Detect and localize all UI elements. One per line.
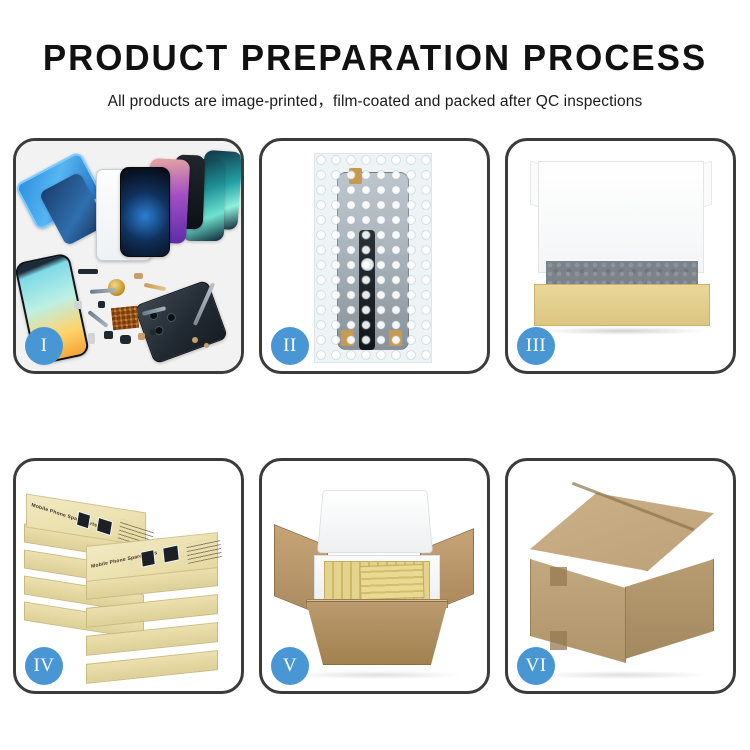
carton-top-face [530, 493, 714, 571]
box-phone-image [140, 549, 156, 568]
camera-hole-icon [361, 258, 374, 271]
step-card-6[interactable]: VI [505, 458, 736, 694]
header: PRODUCT PREPARATION PROCESS All products… [0, 38, 750, 111]
page-title: PRODUCT PREPARATION PROCESS [11, 38, 739, 78]
carton-shadow [538, 671, 708, 679]
screw-2-icon [192, 337, 198, 343]
flex-cable-2-icon [87, 310, 108, 328]
step-badge-4: IV [25, 647, 63, 685]
carton-side-face [625, 559, 714, 659]
box-shadow [538, 327, 708, 335]
carton-front-face [530, 559, 626, 663]
carton-shadow [292, 671, 462, 679]
page-subtitle: All products are image-printed，film-coat… [0, 89, 750, 111]
flex-cable-strip [359, 230, 375, 350]
component-dark-icon [104, 331, 113, 339]
phone-housing-icon [134, 280, 229, 365]
step-card-2[interactable]: II [259, 138, 490, 374]
lcd-screen-icon [120, 167, 170, 257]
button-icon [150, 329, 156, 335]
step-card-4[interactable]: Mobile Phone Spare Parts Mobile Phone Sp… [13, 458, 244, 694]
yellow-boxes-inside-2 [359, 564, 424, 600]
connector-left-icon [341, 330, 354, 346]
step-badge-1: I [25, 327, 63, 365]
component-bar-icon [78, 269, 98, 274]
yellow-box-body [534, 284, 710, 326]
foam-lid [538, 161, 704, 273]
component-pale-icon [88, 333, 95, 344]
step-card-3[interactable]: III [505, 138, 736, 374]
bubble-wrap-bag [314, 153, 432, 363]
foam-lid-open [317, 490, 433, 553]
screw-icon [138, 333, 145, 340]
box-phone-image [162, 544, 180, 563]
product-preparation-infographic: PRODUCT PREPARATION PROCESS All products… [0, 0, 750, 750]
process-steps-grid: I II [13, 138, 737, 694]
step-badge-2: II [271, 327, 309, 365]
carton-tape-top [550, 567, 567, 586]
step-card-5[interactable]: V [259, 458, 490, 694]
component-tan-icon [134, 273, 143, 279]
screw-3-icon [204, 343, 209, 348]
ic-icon [98, 301, 105, 308]
carton-tape-bottom [550, 631, 567, 650]
camera-module-icon [120, 335, 131, 344]
flex-cable-gold-icon [144, 283, 166, 291]
sim-tray-icon [74, 301, 82, 309]
carton-body [306, 601, 448, 665]
step-badge-3: III [517, 327, 555, 365]
step-badge-5: V [271, 647, 309, 685]
connector-top-icon [349, 168, 362, 184]
connector-right-icon [389, 330, 402, 346]
step-card-1[interactable]: I [13, 138, 244, 374]
box-phone-image [96, 517, 113, 536]
box-text-lines [186, 537, 222, 564]
box-phone-image [76, 511, 91, 530]
step-badge-6: VI [517, 647, 555, 685]
chip-icon [111, 306, 139, 331]
stacked-box [86, 650, 218, 684]
